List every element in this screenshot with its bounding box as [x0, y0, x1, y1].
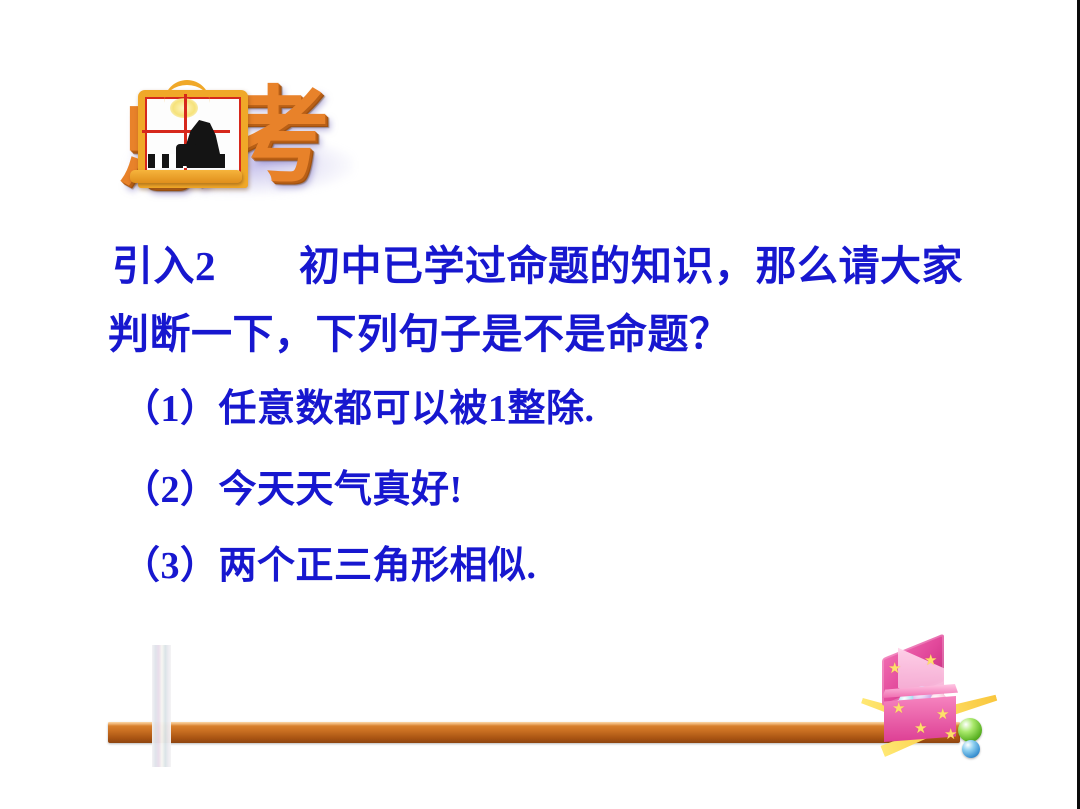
green-marble-icon	[958, 718, 982, 742]
gift-box-decoration: ★ ★ ★ ★ ★ ★	[858, 640, 1003, 765]
star-icon: ★	[936, 708, 949, 723]
list-item: （1）任意数都可以被1整除.	[122, 377, 595, 432]
list-item: （3）两个正三角形相似.	[122, 534, 537, 589]
star-icon: ★	[914, 722, 927, 737]
intro-paragraph-line-2: 判断一下，下列句子是不是命题？	[108, 300, 731, 360]
intro-paragraph-line-1: 引入2 初中已学过命题的知识，那么请大家	[112, 232, 963, 292]
star-icon: ★	[888, 662, 901, 677]
frame-mullion-horizontal	[142, 130, 230, 133]
star-icon: ★	[892, 702, 905, 717]
glass-pillar-decoration	[152, 645, 171, 767]
wooden-bar-decoration	[108, 722, 960, 743]
title-art-sikao: 思 考	[118, 78, 358, 198]
presentation-slide: 思 考 引入2 初中已学过命题的知识，那么请大家 判断一下，下列句子是不是命题？…	[0, 0, 1080, 809]
star-icon: ★	[944, 728, 957, 743]
blue-marble-icon	[962, 740, 980, 758]
thinker-arm-icon	[176, 144, 198, 166]
list-item: （2）今天天气真好!	[122, 458, 463, 513]
star-icon: ★	[924, 654, 937, 669]
frame-base-icon	[130, 170, 242, 183]
